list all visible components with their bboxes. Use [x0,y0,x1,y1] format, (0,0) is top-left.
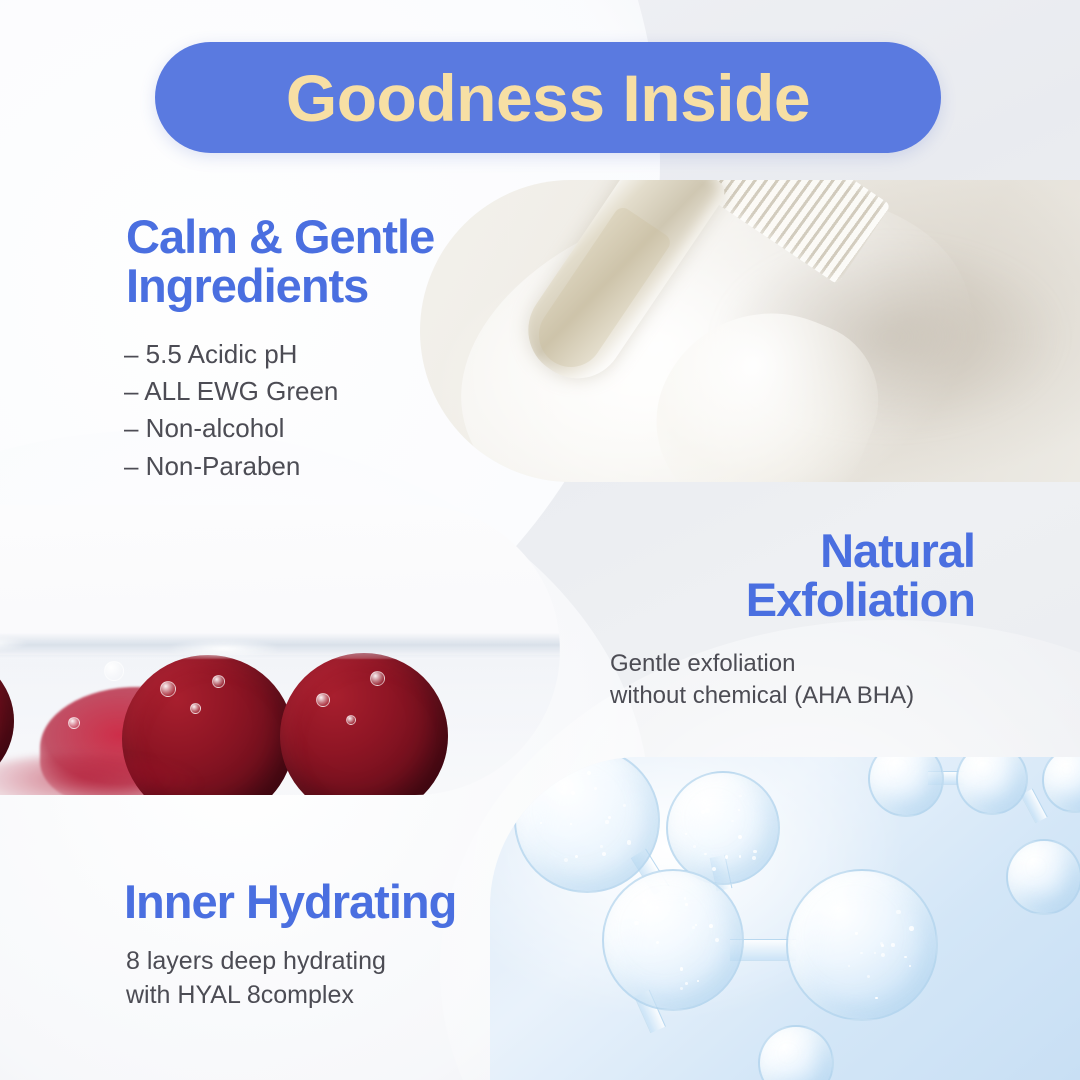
molecule-bubble [868,757,944,817]
bubble-sparkle [623,804,626,807]
header-banner: Goodness Inside [155,42,941,153]
bubble-sparkle [561,791,563,793]
bubble-sparkle [692,926,695,929]
section-heading-inner-hydrating: Inner Hydrating [124,878,594,927]
cherries-in-water-image [0,505,560,795]
molecule-bubble [666,771,780,885]
bubble-sparkle [867,975,870,978]
bubble-sparkle [752,856,756,860]
bubble-sparkle [587,771,591,775]
bubble-sparkle [684,897,686,899]
section-heading-calm-gentle: Calm & Gentle Ingredients [126,213,526,311]
body-line-1: Gentle exfoliation [610,648,1010,680]
bubble-sparkle [909,926,913,930]
water-surface-line [0,633,560,659]
molecule-bubble [786,869,938,1021]
bubble-sparkle [738,835,742,839]
heading-line-1: Calm & Gentle [126,213,526,262]
bubble-sparkle [693,845,696,848]
bubble-sparkle [564,858,568,862]
bubble-sparkle [656,941,659,944]
bubble-sparkle [634,921,638,925]
bubble-sparkle [600,845,602,847]
water-bubble [370,671,385,686]
bubble-sparkle [715,938,719,942]
bubble-sparkle [540,822,542,824]
heading-line-2: Ingredients [126,262,526,311]
page-title: Goodness Inside [286,65,810,131]
bubble-sparkle [705,808,709,812]
bubble-sparkle [855,932,857,934]
bubble-sparkle [602,852,606,856]
bubble-sparkle [701,810,704,813]
bubble-sparkle [860,952,863,955]
bubble-sparkle [739,795,742,798]
body-line-2: with HYAL 8complex [126,979,546,1013]
bubble-sparkle [848,965,850,967]
bubble-sparkle [709,924,713,928]
bubble-sparkle [685,982,688,985]
bubble-sparkle [594,787,597,790]
heading-line-2: Exfoliation [505,576,975,625]
bubble-sparkle [738,809,740,811]
water-bubble [346,715,356,725]
bubble-sparkle [704,853,706,855]
heading-line-1: Inner Hydrating [124,878,594,927]
bubble-sparkle [570,823,572,825]
bubble-sparkle [881,944,884,947]
water-bubble [160,681,176,697]
bubble-sparkle [575,855,578,858]
bubble-sparkle [874,952,876,954]
bubble-sparkle [627,840,631,844]
molecule-bubble [956,757,1028,815]
water-bubble [68,717,80,729]
bubble-sparkle [697,980,699,982]
water-bubble [212,675,225,688]
list-item: – Non-Paraben [124,448,484,485]
bubble-sparkle [904,956,907,959]
bubble-sparkle [725,855,728,858]
bubble-sparkle [731,820,734,823]
bubble-sparkle [695,924,698,927]
section-heading-natural-exfoliation: Natural Exfoliation [505,527,975,625]
bubble-sparkle [685,833,687,835]
bubble-sparkle [875,997,877,999]
molecule-bubble [602,869,744,1011]
molecule-bubble [514,757,660,893]
heading-line-1: Natural [505,527,975,576]
product-benefits-infographic: Goodness Inside Calm & Gentle Ingredient… [0,0,1080,1080]
bubble-sparkle [642,899,646,903]
bubble-sparkle [685,903,688,906]
molecule-bubble [1042,757,1080,813]
body-line-2: without chemical (AHA BHA) [610,680,1010,712]
list-item: – 5.5 Acidic pH [124,336,484,373]
body-line-1: 8 layers deep hydrating [126,945,546,979]
bubble-sparkle [881,953,885,957]
bubble-sparkle [605,820,608,823]
molecule-bubble [758,1025,834,1080]
water-bubble [190,703,201,714]
molecule-bubble [1006,839,1080,915]
ingredient-bullet-list: – 5.5 Acidic pH – ALL EWG Green – Non-al… [124,336,484,485]
bubble-sparkle [571,791,575,795]
list-item: – Non-alcohol [124,410,484,447]
bubble-sparkle [891,943,895,947]
section-body-inner-hydrating: 8 layers deep hydrating with HYAL 8compl… [126,945,546,1012]
bubble-sparkle [753,850,757,854]
section-body-natural-exfoliation: Gentle exfoliation without chemical (AHA… [610,648,1010,712]
bubble-sparkle [896,910,900,914]
bubble-sparkle [680,967,683,970]
bubble-sparkle [655,906,659,910]
water-bubble [104,661,124,681]
bubble-sparkle [680,987,683,990]
bubble-sparkle [608,816,611,819]
bubble-sparkle [909,965,911,967]
bubble-sparkle [739,855,741,857]
bubble-sparkle [712,867,716,871]
list-item: – ALL EWG Green [124,373,484,410]
water-bubble [316,693,330,707]
